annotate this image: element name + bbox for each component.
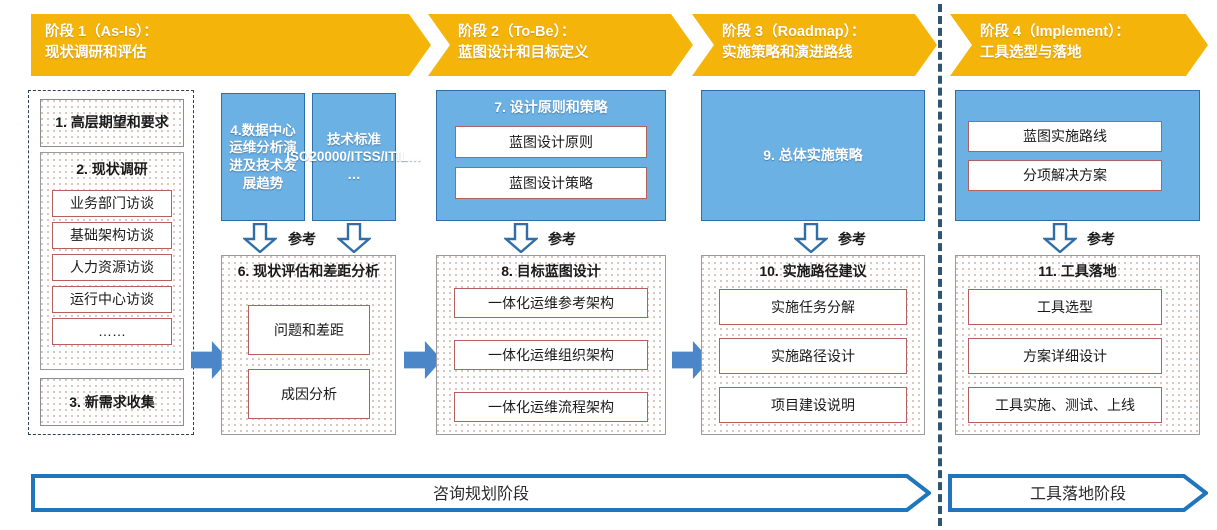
phase-header-2-line1: 阶段 2（To-Be）： — [458, 22, 693, 43]
card-hr-interview[interactable]: 人力资源访谈 — [52, 254, 172, 281]
card-tool-implementation-label: 工具实施、测试、上线 — [995, 397, 1135, 414]
card-overall-implementation-strategy[interactable]: 9. 总体实施策略 — [701, 90, 925, 221]
reference-label-col2: 参考 — [288, 229, 316, 249]
card-problems-and-gaps-label: 问题和差距 — [274, 322, 344, 339]
group-current-state-survey-title: 2. 现状调研 — [41, 161, 183, 179]
card-tech-standards[interactable]: 技术标准ISO20000/ITSS/ITIL… … — [312, 93, 396, 221]
phase-header-1-line1: 阶段 1（As-Is）： — [45, 22, 431, 43]
card-more-interviews[interactable]: …… — [52, 318, 172, 345]
phase-header-3-line1: 阶段 3（Roadmap）： — [722, 22, 937, 43]
card-detailed-solution-design-label: 方案详细设计 — [1023, 348, 1107, 365]
group-design-principles-title: 7. 设计原则和策略 — [494, 99, 608, 117]
phase-header-1-line2: 现状调研和评估 — [45, 43, 431, 64]
reference-label-col5: 参考 — [1087, 229, 1115, 249]
group-implementation-path-title: 10. 实施路径建议 — [702, 263, 924, 281]
card-noc-interview[interactable]: 运行中心访谈 — [52, 286, 172, 313]
card-ops-org-architecture-label: 一体化运维组织架构 — [488, 347, 614, 364]
card-task-breakdown-label: 实施任务分解 — [771, 299, 855, 316]
card-high-level-expectations[interactable]: 1. 高层期望和要求 — [40, 99, 184, 147]
card-project-description-label: 项目建设说明 — [771, 397, 855, 414]
card-subitem-solutions[interactable]: 分项解决方案 — [968, 160, 1162, 191]
card-blueprint-design-principle-label: 蓝图设计原则 — [509, 134, 593, 151]
reference-label-col3: 参考 — [548, 229, 576, 249]
reference-arrow-col2-right — [337, 223, 371, 253]
card-detailed-solution-design[interactable]: 方案详细设计 — [968, 338, 1162, 374]
reference-label-col4: 参考 — [838, 229, 866, 249]
card-ops-process-architecture-label: 一体化运维流程架构 — [488, 399, 614, 416]
card-hr-interview-label: 人力资源访谈 — [70, 259, 154, 276]
card-ops-reference-architecture[interactable]: 一体化运维参考架构 — [454, 288, 648, 318]
phase-header-4-line2: 工具选型与落地 — [980, 43, 1208, 64]
reference-arrow-col5 — [1043, 223, 1077, 253]
card-path-design[interactable]: 实施路径设计 — [719, 338, 907, 374]
card-tech-standards-label: 技术标准ISO20000/ITSS/ITIL… … — [286, 131, 422, 184]
card-blueprint-design-strategy[interactable]: 蓝图设计策略 — [455, 167, 647, 199]
card-path-design-label: 实施路径设计 — [771, 348, 855, 365]
card-task-breakdown[interactable]: 实施任务分解 — [719, 289, 907, 325]
card-more-interviews-label: …… — [98, 323, 126, 340]
card-root-cause-analysis[interactable]: 成因分析 — [248, 369, 370, 419]
card-ops-reference-architecture-label: 一体化运维参考架构 — [488, 295, 614, 312]
banner-tool-landing-label: 工具落地阶段 — [1030, 480, 1126, 504]
card-new-requirements-label: 3. 新需求收集 — [69, 394, 155, 411]
card-tool-selection-label: 工具选型 — [1037, 299, 1093, 316]
card-tool-selection[interactable]: 工具选型 — [968, 289, 1162, 325]
card-project-description[interactable]: 项目建设说明 — [719, 387, 907, 423]
card-overall-implementation-strategy-label: 9. 总体实施策略 — [763, 147, 863, 165]
card-ops-process-architecture[interactable]: 一体化运维流程架构 — [454, 392, 648, 422]
card-high-level-expectations-label: 1. 高层期望和要求 — [52, 114, 172, 132]
group-target-blueprint-title: 8. 目标蓝图设计 — [437, 263, 665, 281]
card-infrastructure-interview-label: 基础架构访谈 — [70, 227, 154, 244]
card-problems-and-gaps[interactable]: 问题和差距 — [248, 305, 370, 355]
card-blueprint-roadmap-label: 蓝图实施路线 — [1023, 128, 1107, 145]
group-gap-analysis-title: 6. 现状评估和差距分析 — [222, 263, 395, 281]
phase-header-4-line1: 阶段 4（Implement）： — [980, 22, 1208, 43]
card-new-requirements[interactable]: 3. 新需求收集 — [40, 378, 184, 426]
card-root-cause-analysis-label: 成因分析 — [281, 386, 337, 403]
phase-divider — [938, 4, 942, 526]
banner-tool-landing-phase[interactable]: 工具落地阶段 — [948, 473, 1208, 513]
card-noc-interview-label: 运行中心访谈 — [70, 291, 154, 308]
card-tool-implementation[interactable]: 工具实施、测试、上线 — [968, 387, 1162, 423]
phase-header-2-line2: 蓝图设计和目标定义 — [458, 43, 693, 64]
reference-arrow-col3 — [504, 223, 538, 253]
phase-header-3-line2: 实施策略和演进路线 — [722, 43, 937, 64]
card-business-dept-interview-label: 业务部门访谈 — [70, 195, 154, 212]
group-blueprint-delivery[interactable] — [955, 90, 1200, 221]
card-business-dept-interview[interactable]: 业务部门访谈 — [52, 190, 172, 217]
phase-header-3[interactable]: 阶段 3（Roadmap）： 实施策略和演进路线 — [692, 14, 937, 76]
card-blueprint-roadmap[interactable]: 蓝图实施路线 — [968, 121, 1162, 152]
banner-consulting-label: 咨询规划阶段 — [433, 480, 529, 504]
group-tool-landing-title: 11. 工具落地 — [956, 263, 1199, 281]
card-infrastructure-interview[interactable]: 基础架构访谈 — [52, 222, 172, 249]
phase-header-2[interactable]: 阶段 2（To-Be）： 蓝图设计和目标定义 — [428, 14, 693, 76]
diagram-canvas: 阶段 1（As-Is）： 现状调研和评估 阶段 2（To-Be）： 蓝图设计和目… — [0, 0, 1217, 530]
phase-header-1[interactable]: 阶段 1（As-Is）： 现状调研和评估 — [31, 14, 431, 76]
phase-header-4[interactable]: 阶段 4（Implement）： 工具选型与落地 — [950, 14, 1208, 76]
reference-arrow-col2-left — [243, 223, 277, 253]
reference-arrow-col4 — [794, 223, 828, 253]
card-ops-org-architecture[interactable]: 一体化运维组织架构 — [454, 340, 648, 370]
card-blueprint-design-strategy-label: 蓝图设计策略 — [509, 175, 593, 192]
card-blueprint-design-principle[interactable]: 蓝图设计原则 — [455, 126, 647, 158]
banner-consulting-phase[interactable]: 咨询规划阶段 — [31, 473, 931, 513]
card-subitem-solutions-label: 分项解决方案 — [1023, 167, 1107, 184]
